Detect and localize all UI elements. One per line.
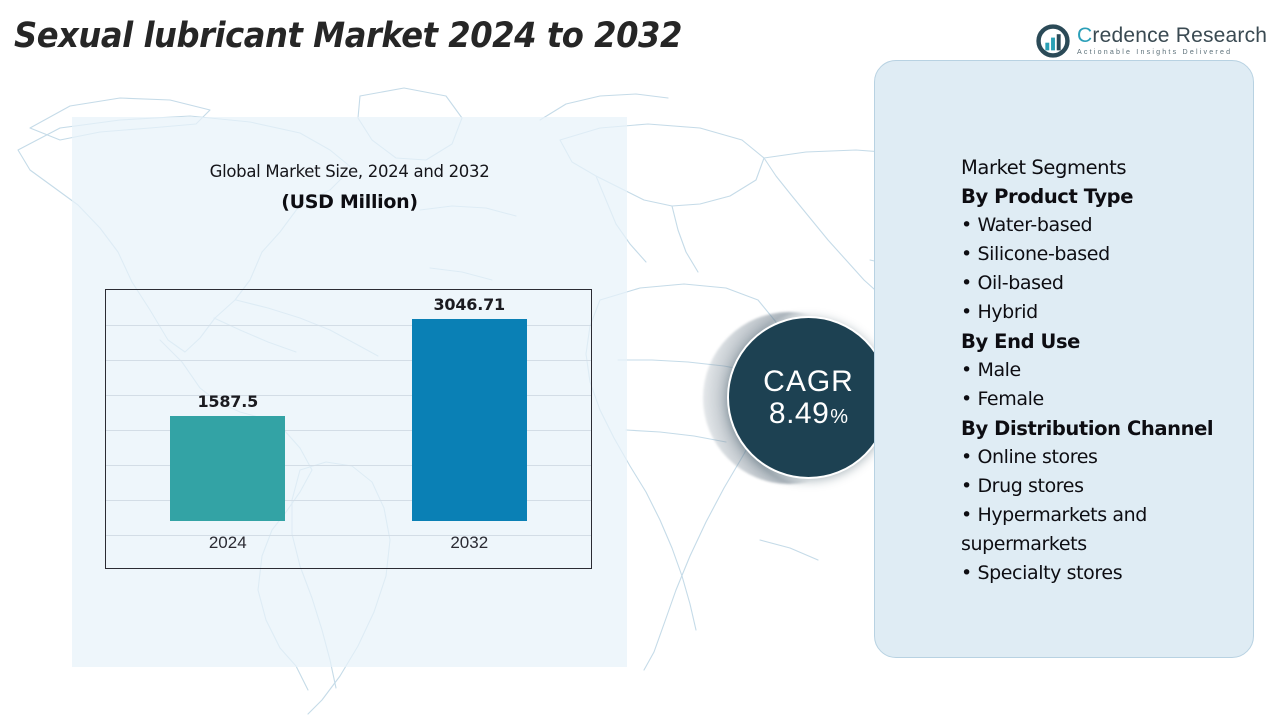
bar-column: 3046.71	[370, 291, 568, 521]
bar-rect	[170, 416, 285, 521]
segment-group-heading: By End Use	[961, 327, 1251, 356]
category-label: 2032	[370, 533, 568, 553]
bar-column: 1587.5	[129, 291, 327, 521]
bar-rect	[412, 319, 527, 521]
cagr-label: CAGR	[763, 366, 854, 398]
cagr-percent-symbol: %	[830, 407, 848, 428]
cagr-badge: CAGR 8.49 %	[727, 316, 890, 479]
market-segments-list: Market Segments By Product Type• Water-b…	[961, 153, 1251, 588]
cagr-value: 8.49	[769, 398, 829, 430]
segment-item: • Hypermarkets and supermarkets	[961, 501, 1251, 559]
segment-item: • Water-based	[961, 211, 1251, 240]
bar-chart-circle-icon	[1036, 24, 1070, 58]
segment-item: • Silicone-based	[961, 240, 1251, 269]
logo-tagline: Actionable Insights Delivered	[1077, 49, 1267, 56]
chart-panel: Global Market Size, 2024 and 2032 (USD M…	[72, 117, 627, 667]
segment-item: • Online stores	[961, 443, 1251, 472]
segment-item: • Female	[961, 385, 1251, 414]
chart-category-labels: 20242032	[107, 526, 590, 560]
logo-name-rest: redence Research	[1092, 24, 1267, 47]
segment-item: • Specialty stores	[961, 559, 1251, 588]
segment-group-heading: By Product Type	[961, 182, 1251, 211]
logo-text: Credence Research Actionable Insights De…	[1077, 25, 1267, 56]
segment-item: • Drug stores	[961, 472, 1251, 501]
infographic-canvas: Sexual lubricant Market 2024 to 2032 Cre…	[0, 0, 1280, 720]
bar-value-label: 1587.5	[197, 392, 258, 411]
brand-logo: Credence Research Actionable Insights De…	[1036, 24, 1267, 58]
chart-plot-area: 1587.53046.71	[107, 291, 590, 521]
bar-value-label: 3046.71	[434, 295, 505, 314]
page-title: Sexual lubricant Market 2024 to 2032	[14, 16, 682, 56]
segment-group-heading: By Distribution Channel	[961, 414, 1251, 443]
logo-name: Credence Research	[1077, 25, 1267, 46]
chart-title-line-1: Global Market Size, 2024 and 2032	[72, 162, 627, 181]
segments-heading: Market Segments	[961, 153, 1251, 182]
logo-name-accent: C	[1077, 24, 1092, 47]
cagr-value-row: 8.49 %	[769, 398, 848, 430]
segment-item: • Male	[961, 356, 1251, 385]
segment-item: • Oil-based	[961, 269, 1251, 298]
chart-plot-frame: 1587.53046.71 20242032	[105, 289, 592, 569]
segment-item: • Hybrid	[961, 298, 1251, 327]
chart-title-line-2: (USD Million)	[72, 191, 627, 213]
category-label: 2024	[129, 533, 327, 553]
market-segments-panel: Market Segments By Product Type• Water-b…	[874, 60, 1254, 658]
